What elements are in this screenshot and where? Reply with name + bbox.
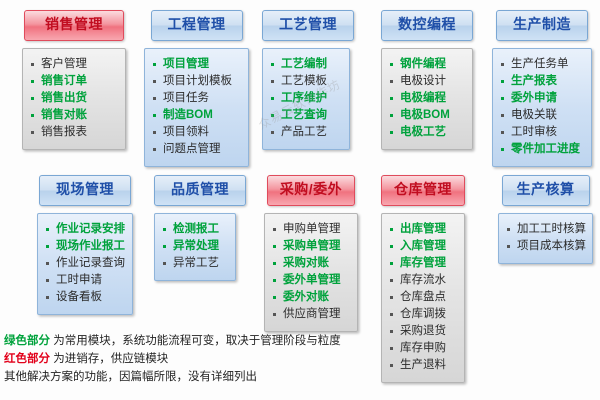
module-list-cnc: 钢件编程电极设计电极编程电极BOM电极工艺 [387, 56, 467, 141]
module-shopfloor: 现场管理作业记录安排现场作业报工作业记录查询工时申请设备看板 [37, 175, 133, 315]
list-item[interactable]: 电极工艺 [387, 124, 467, 141]
list-item[interactable]: 工艺查询 [268, 107, 344, 124]
diagram-canvas: 众易云软件作坊 销售管理客户管理销售订单销售出货销售对账销售报表工程管理项目管理… [0, 0, 600, 400]
list-item[interactable]: 项目管理 [150, 56, 243, 73]
module-header-quality[interactable]: 品质管理 [154, 175, 246, 206]
module-header-sales[interactable]: 销售管理 [24, 10, 124, 41]
list-item[interactable]: 仓库盘点 [387, 289, 459, 306]
list-item[interactable]: 电极设计 [387, 73, 467, 90]
list-item[interactable]: 项目任务 [150, 90, 243, 107]
list-item[interactable]: 供应商管理 [270, 306, 352, 323]
list-item[interactable]: 作业记录安排 [43, 221, 127, 238]
list-item[interactable]: 电极编程 [387, 90, 467, 107]
list-item[interactable]: 委外对账 [270, 289, 352, 306]
module-header-purchase[interactable]: 采购/委外 [267, 175, 355, 206]
module-list-manufacturing: 生产任务单生产报表委外申请电极关联工时审核零件加工进度 [498, 56, 586, 158]
legend: 绿色部分 为常用模块，系统功能流程可变，取决于管理阶段与粒度 红色部分 为进销存… [4, 332, 404, 386]
module-body-purchase: 申购单管理采购单管理采购对账委外单管理委外对账供应商管理 [264, 213, 358, 332]
module-header-process[interactable]: 工艺管理 [262, 10, 354, 41]
list-item[interactable]: 异常处理 [160, 238, 230, 255]
list-item[interactable]: 委外申请 [498, 90, 586, 107]
list-item[interactable]: 工艺模板 [268, 73, 344, 90]
module-list-quality: 检测报工异常处理异常工艺 [160, 221, 230, 272]
module-list-purchase: 申购单管理采购单管理采购对账委外单管理委外对账供应商管理 [270, 221, 352, 323]
legend-line-note: 其他解决方案的功能，因篇幅所限，没有详细列出 [4, 368, 404, 386]
module-list-shopfloor: 作业记录安排现场作业报工作业记录查询工时申请设备看板 [43, 221, 127, 306]
module-header-warehouse[interactable]: 仓库管理 [381, 175, 465, 206]
list-item[interactable]: 电极BOM [387, 107, 467, 124]
list-item[interactable]: 申购单管理 [270, 221, 352, 238]
list-item[interactable]: 制造BOM [150, 107, 243, 124]
list-item[interactable]: 生产任务单 [498, 56, 586, 73]
list-item[interactable]: 电极关联 [498, 107, 586, 124]
list-item[interactable]: 钢件编程 [387, 56, 467, 73]
legend-green-text: 为常用模块，系统功能流程可变，取决于管理阶段与粒度 [53, 335, 341, 347]
module-body-cnc: 钢件编程电极设计电极编程电极BOM电极工艺 [381, 48, 473, 150]
list-item[interactable]: 工时申请 [43, 272, 127, 289]
list-item[interactable]: 零件加工进度 [498, 141, 586, 158]
list-item[interactable]: 采购对账 [270, 255, 352, 272]
list-item[interactable]: 销售对账 [28, 107, 120, 124]
module-quality: 品质管理检测报工异常处理异常工艺 [154, 175, 236, 281]
list-item[interactable]: 入库管理 [387, 238, 459, 255]
legend-green-tag: 绿色部分 [4, 335, 50, 347]
module-body-manufacturing: 生产任务单生产报表委外申请电极关联工时审核零件加工进度 [492, 48, 592, 167]
list-item[interactable]: 设备看板 [43, 289, 127, 306]
module-header-shopfloor[interactable]: 现场管理 [39, 175, 131, 206]
module-purchase: 采购/委外申购单管理采购单管理采购对账委外单管理委外对账供应商管理 [264, 175, 358, 332]
legend-line-red: 红色部分 为进销存，供应链模块 [4, 350, 404, 368]
list-item[interactable]: 客户管理 [28, 56, 120, 73]
module-body-quality: 检测报工异常处理异常工艺 [154, 213, 236, 281]
module-body-sales: 客户管理销售订单销售出货销售对账销售报表 [22, 48, 126, 150]
list-item[interactable]: 项目成本核算 [504, 238, 587, 255]
module-body-shopfloor: 作业记录安排现场作业报工作业记录查询工时申请设备看板 [37, 213, 133, 315]
list-item[interactable]: 库存管理 [387, 255, 459, 272]
module-list-costing: 加工工时核算项目成本核算 [504, 221, 587, 255]
module-engineering: 工程管理项目管理项目计划模板项目任务制造BOM项目领料问题点管理 [144, 10, 249, 167]
list-item[interactable]: 生产报表 [498, 73, 586, 90]
list-item[interactable]: 工序维护 [268, 90, 344, 107]
list-item[interactable]: 问题点管理 [150, 141, 243, 158]
module-header-cnc[interactable]: 数控编程 [381, 10, 473, 41]
module-sales: 销售管理客户管理销售订单销售出货销售对账销售报表 [22, 10, 126, 150]
list-item[interactable]: 销售出货 [28, 90, 120, 107]
module-body-costing: 加工工时核算项目成本核算 [498, 213, 593, 264]
list-item[interactable]: 库存流水 [387, 272, 459, 289]
list-item[interactable]: 现场作业报工 [43, 238, 127, 255]
list-item[interactable]: 委外单管理 [270, 272, 352, 289]
legend-red-text: 为进销存，供应链模块 [53, 353, 168, 365]
module-header-engineering[interactable]: 工程管理 [151, 10, 243, 41]
module-body-process: 工艺编制工艺模板工序维护工艺查询产品工艺 [262, 48, 350, 150]
module-costing: 生产核算加工工时核算项目成本核算 [498, 175, 593, 264]
list-item[interactable]: 工时审核 [498, 124, 586, 141]
legend-line-green: 绿色部分 为常用模块，系统功能流程可变，取决于管理阶段与粒度 [4, 332, 404, 350]
list-item[interactable]: 检测报工 [160, 221, 230, 238]
list-item[interactable]: 产品工艺 [268, 124, 344, 141]
list-item[interactable]: 出库管理 [387, 221, 459, 238]
module-process: 工艺管理工艺编制工艺模板工序维护工艺查询产品工艺 [262, 10, 350, 150]
module-manufacturing: 生产制造生产任务单生产报表委外申请电极关联工时审核零件加工进度 [492, 10, 592, 167]
list-item[interactable]: 加工工时核算 [504, 221, 587, 238]
module-list-process: 工艺编制工艺模板工序维护工艺查询产品工艺 [268, 56, 344, 141]
list-item[interactable]: 项目计划模板 [150, 73, 243, 90]
module-cnc: 数控编程钢件编程电极设计电极编程电极BOM电极工艺 [381, 10, 473, 150]
list-item[interactable]: 工艺编制 [268, 56, 344, 73]
module-list-engineering: 项目管理项目计划模板项目任务制造BOM项目领料问题点管理 [150, 56, 243, 158]
list-item[interactable]: 仓库调拨 [387, 306, 459, 323]
list-item[interactable]: 项目领料 [150, 124, 243, 141]
module-body-engineering: 项目管理项目计划模板项目任务制造BOM项目领料问题点管理 [144, 48, 249, 167]
module-list-sales: 客户管理销售订单销售出货销售对账销售报表 [28, 56, 120, 141]
legend-red-tag: 红色部分 [4, 353, 50, 365]
module-header-manufacturing[interactable]: 生产制造 [496, 10, 588, 41]
list-item[interactable]: 销售报表 [28, 124, 120, 141]
list-item[interactable]: 销售订单 [28, 73, 120, 90]
list-item[interactable]: 作业记录查询 [43, 255, 127, 272]
module-header-costing[interactable]: 生产核算 [502, 175, 590, 206]
list-item[interactable]: 采购单管理 [270, 238, 352, 255]
list-item[interactable]: 异常工艺 [160, 255, 230, 272]
